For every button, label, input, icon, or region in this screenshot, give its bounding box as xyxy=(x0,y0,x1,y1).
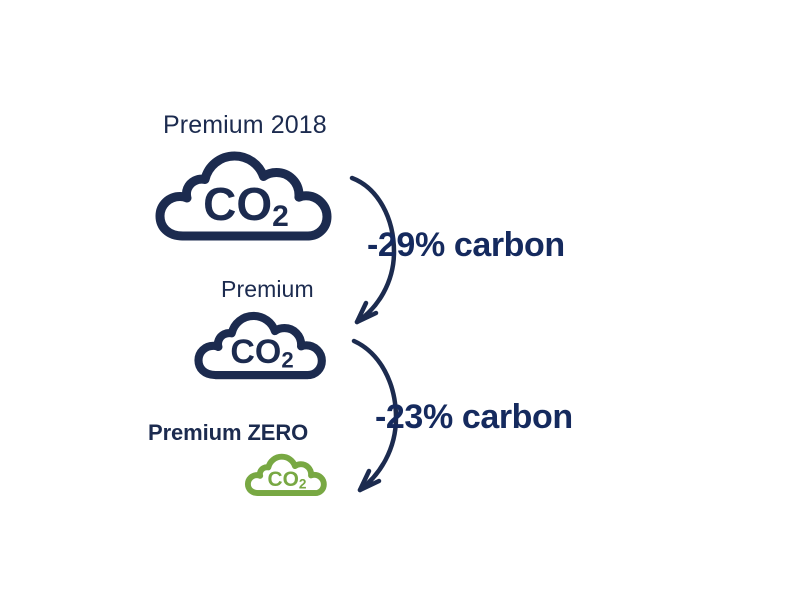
co2-cloud-large-svg: CO2 xyxy=(158,148,334,240)
reduction-label-2: -23% carbon xyxy=(375,400,573,434)
co2-cloud-small-svg: CO2 xyxy=(247,453,327,495)
tier-label-premium-zero: Premium ZERO xyxy=(148,422,308,444)
carbon-reduction-infographic: Premium 2018 CO2 -29% carbon Premium CO2 xyxy=(0,0,805,600)
reduction-label-1: -29% carbon xyxy=(367,228,565,262)
co2-cloud-icon-premium: CO2 xyxy=(197,310,327,378)
co2-cloud-icon-premium-zero: CO2 xyxy=(247,453,327,495)
co2-cloud-medium-svg: CO2 xyxy=(197,310,327,378)
co2-label-large: CO2 xyxy=(203,178,289,233)
co2-label-small: CO2 xyxy=(268,468,307,492)
co2-label-medium: CO2 xyxy=(230,333,293,372)
tier-label-premium: Premium xyxy=(221,278,314,301)
tier-label-premium-2018: Premium 2018 xyxy=(163,113,327,138)
co2-cloud-icon-premium-2018: CO2 xyxy=(158,148,334,240)
